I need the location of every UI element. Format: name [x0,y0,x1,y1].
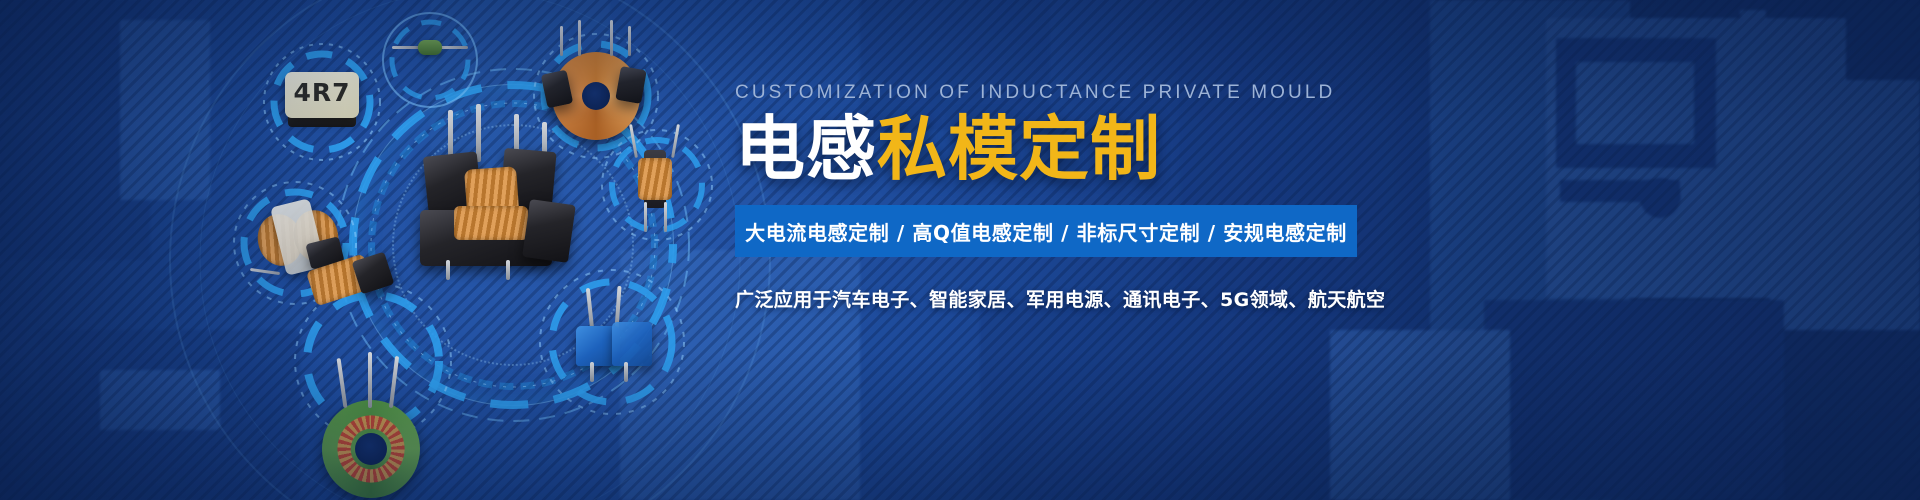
feature-list-bar[interactable]: 大电流电感定制 / 高Q值电感定制 / 非标尺寸定制 / 安规电感定制 [735,205,1357,257]
english-subtitle: CUSTOMIZATION OF INDUCTANCE PRIVATE MOUL… [735,82,1865,104]
title-white-part: 电感 [735,108,877,190]
title-gold-part: 私模定制 [877,108,1161,190]
inductance-custom-mould-banner: 4R7 [0,0,1920,500]
banner-text-block: CUSTOMIZATION OF INDUCTANCE PRIVATE MOUL… [735,82,1865,312]
application-description: 广泛应用于汽车电子、智能家居、军用电源、通讯电子、5G领域、航天航空 [735,285,1865,312]
page-title: 电感私模定制 [735,114,1865,185]
feature-list-text: 大电流电感定制 / 高Q值电感定制 / 非标尺寸定制 / 安规电感定制 [745,217,1347,246]
